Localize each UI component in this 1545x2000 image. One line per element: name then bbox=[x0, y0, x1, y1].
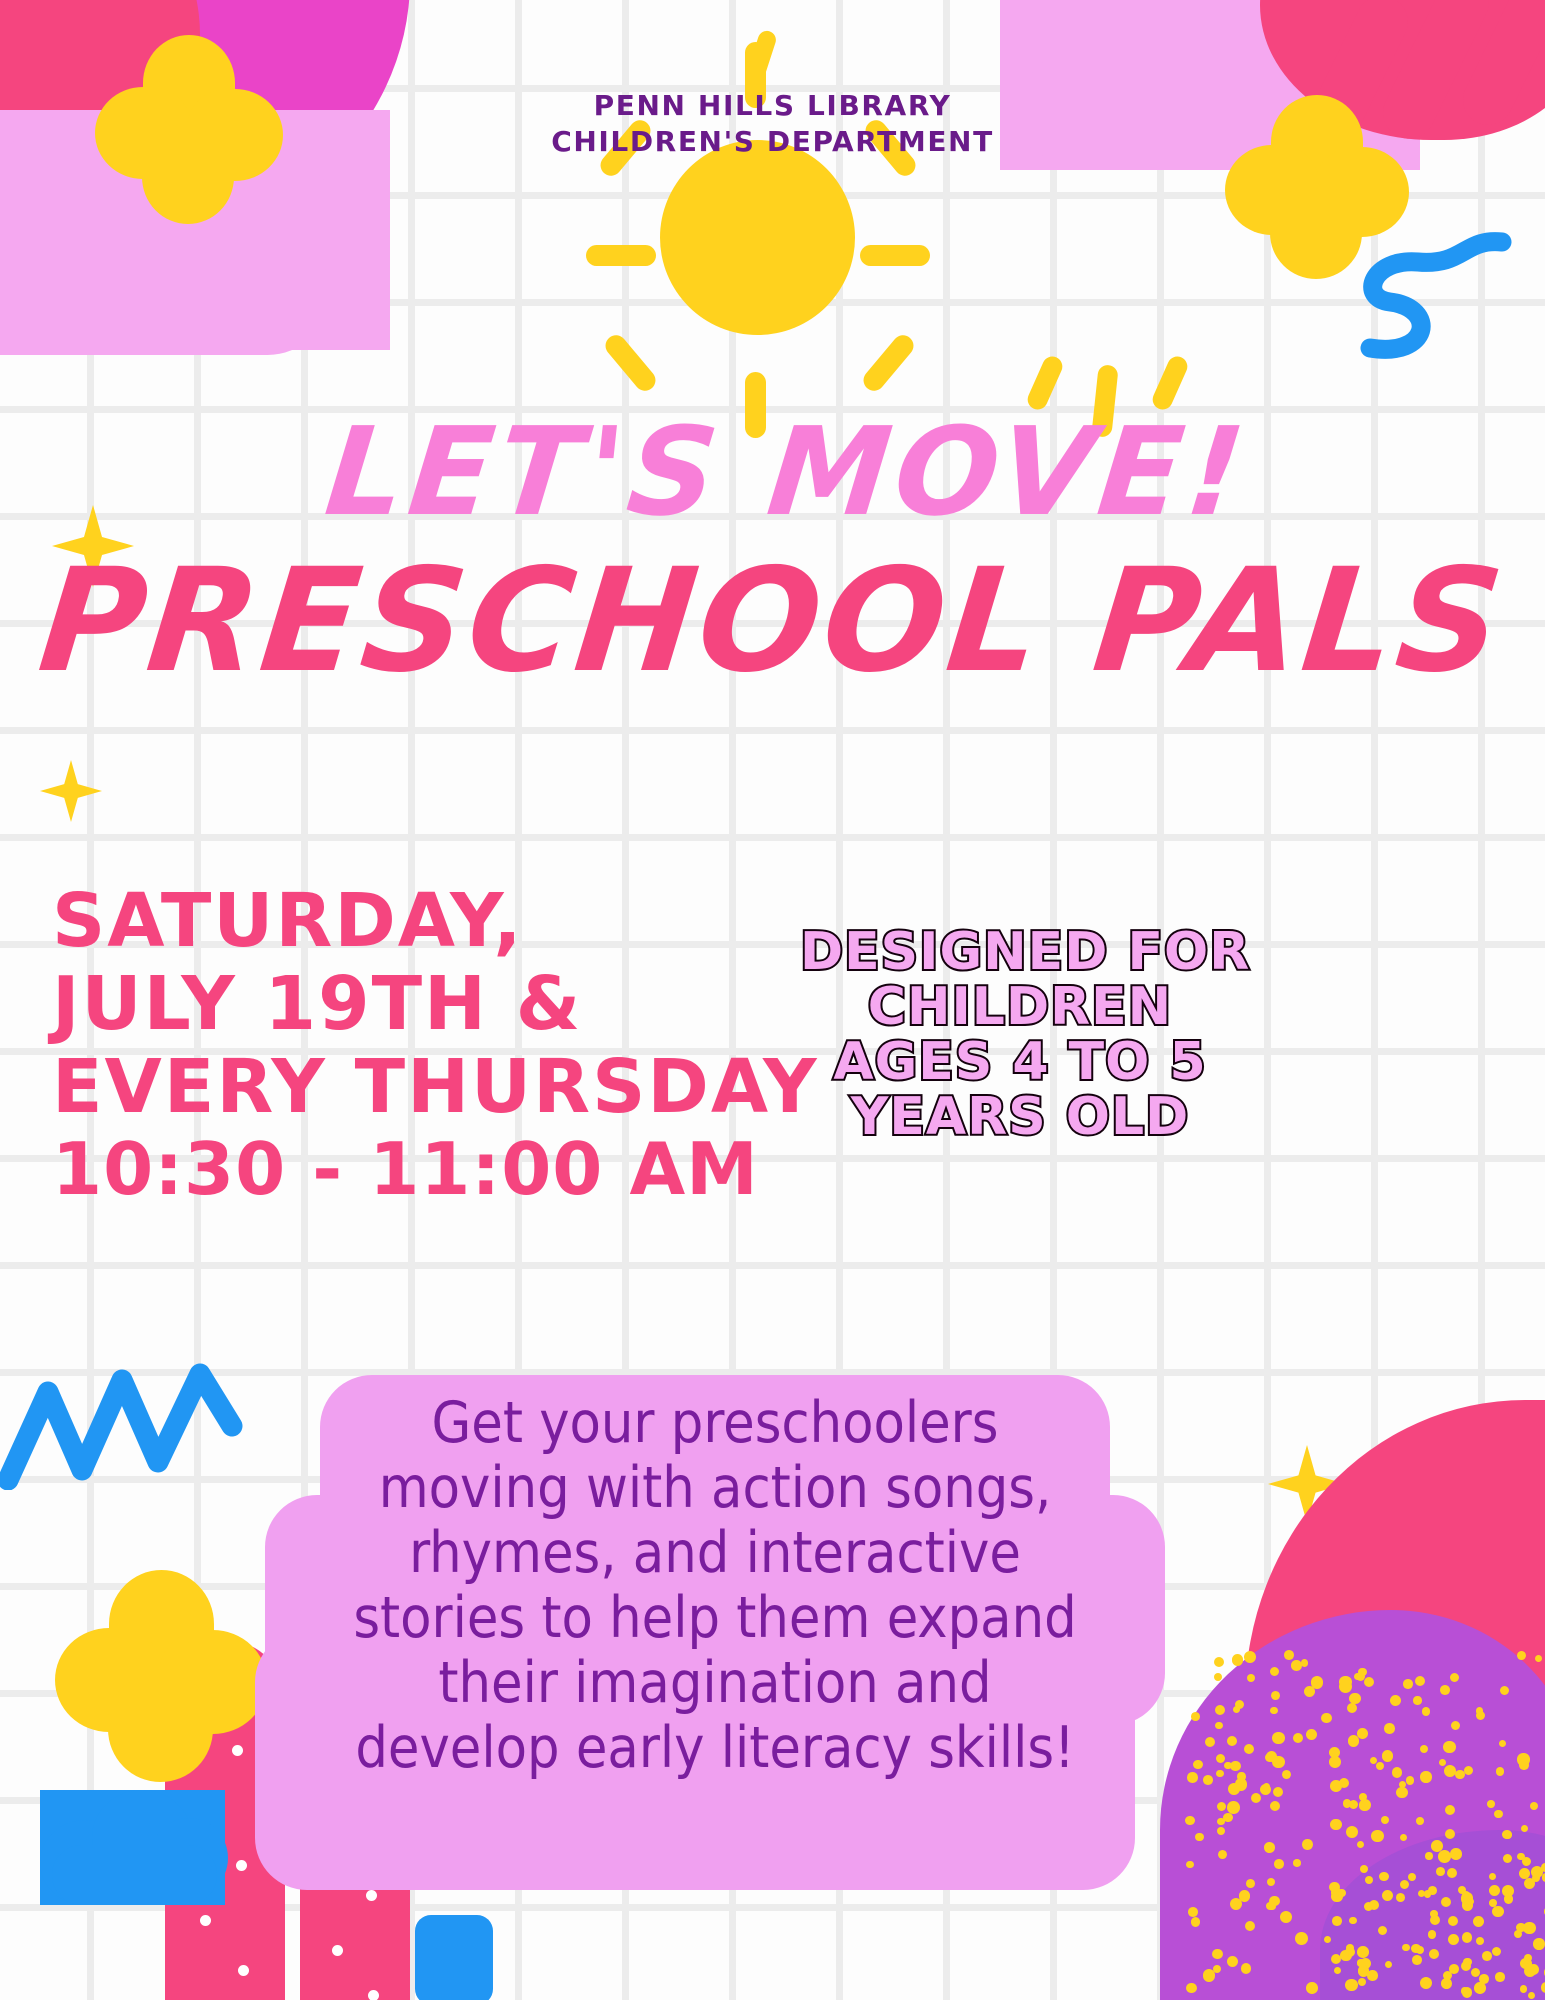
confetti-dot bbox=[1185, 1816, 1195, 1826]
confetti-dot bbox=[1467, 1898, 1474, 1905]
confetti-dot bbox=[1227, 1736, 1237, 1746]
age-badge-line-1: DESIGNED FOR bbox=[800, 925, 1240, 980]
confetti-dot bbox=[1345, 1979, 1357, 1991]
confetti-dot bbox=[1420, 1771, 1431, 1782]
confetti-dot bbox=[1188, 1907, 1198, 1917]
confetti-dot bbox=[1482, 1951, 1492, 1961]
confetti-dot bbox=[1357, 1946, 1369, 1958]
confetti-dot bbox=[1443, 1741, 1456, 1754]
confetti-dot bbox=[1359, 1793, 1367, 1801]
confetti-dot bbox=[1273, 1787, 1283, 1797]
confetti-dot bbox=[1418, 1890, 1425, 1897]
confetti-dot bbox=[1195, 1833, 1204, 1842]
confetti-dot bbox=[1381, 1816, 1389, 1824]
stalk-dot bbox=[366, 1890, 377, 1901]
confetti-dot bbox=[1246, 1879, 1255, 1888]
confetti-dot bbox=[1462, 1987, 1473, 1998]
confetti-dot bbox=[1431, 1840, 1443, 1852]
confetti-dot bbox=[1425, 1852, 1432, 1859]
confetti-dot bbox=[1438, 1850, 1451, 1863]
confetti-dot bbox=[1520, 1958, 1532, 1970]
description-line-3: rhymes, and interactive bbox=[275, 1521, 1155, 1586]
confetti-dot bbox=[1293, 1859, 1300, 1866]
confetti-dot bbox=[1330, 1819, 1341, 1830]
confetti-dot bbox=[1541, 1863, 1545, 1872]
stalk-dot bbox=[332, 1945, 343, 1956]
confetti-dot bbox=[1523, 1922, 1536, 1935]
stalk-dot bbox=[368, 1990, 379, 2000]
title-line-1: LET'S MOVE! bbox=[24, 415, 1545, 531]
confetti-dot bbox=[1402, 1944, 1410, 1952]
confetti-dot bbox=[1503, 1854, 1512, 1863]
confetti-dot bbox=[1489, 1873, 1496, 1880]
confetti-dot bbox=[1517, 1651, 1526, 1660]
confetti-dot bbox=[1439, 1759, 1446, 1766]
confetti-dot bbox=[1301, 1659, 1308, 1666]
stalk-dot bbox=[236, 1860, 247, 1871]
confetti-dot bbox=[1215, 1705, 1225, 1715]
confetti-dot bbox=[1330, 1780, 1342, 1792]
confetti-dot bbox=[1489, 1885, 1500, 1896]
confetti-dot bbox=[1216, 1770, 1223, 1777]
confetti-dot bbox=[1270, 1707, 1278, 1715]
confetti-dot bbox=[1528, 1992, 1535, 1999]
confetti-dot bbox=[1293, 1733, 1303, 1743]
confetti-dot bbox=[1272, 1732, 1285, 1745]
confetti-dot bbox=[1474, 1982, 1486, 1994]
confetti-dot bbox=[1399, 1781, 1407, 1789]
bottom-left-blue-box bbox=[415, 1915, 493, 2000]
confetti-dot bbox=[1241, 1963, 1252, 1974]
age-badge: DESIGNED FOR CHILDREN AGES 4 TO 5 YEARS … bbox=[800, 925, 1240, 1145]
confetti-dot bbox=[1524, 1878, 1535, 1889]
sun-ray bbox=[860, 245, 930, 266]
flyer-poster: PENN HILLS LIBRARY CHILDREN'S DEPARTMENT… bbox=[0, 0, 1545, 2000]
stalk-dot bbox=[200, 1915, 211, 1926]
confetti-dot bbox=[1448, 1916, 1458, 1926]
confetti-dot bbox=[1440, 1685, 1450, 1695]
confetti-dot bbox=[1441, 1897, 1451, 1907]
bottom-left-flower-icon bbox=[55, 1570, 270, 1780]
confetti-dot bbox=[1245, 1921, 1255, 1931]
confetti-dot bbox=[1396, 1787, 1408, 1799]
confetti-dot bbox=[1462, 1932, 1472, 1942]
sun-icon bbox=[660, 140, 855, 335]
department-name: CHILDREN'S DEPARTMENT bbox=[0, 124, 1545, 160]
confetti-dot bbox=[1217, 1818, 1224, 1825]
confetti-dot bbox=[1191, 1712, 1200, 1721]
confetti-dot bbox=[1365, 1876, 1373, 1884]
confetti-dot bbox=[1227, 1801, 1240, 1814]
confetti-dot bbox=[1430, 1915, 1440, 1925]
confetti-dot bbox=[1403, 1679, 1412, 1688]
title-line-2: PRESCHOOL PALS bbox=[0, 553, 1545, 689]
confetti-dot bbox=[1447, 1868, 1457, 1878]
stalk-dot bbox=[238, 1965, 249, 1976]
schedule-time: 10:30 - 11:00 AM bbox=[52, 1129, 819, 1210]
confetti-dot bbox=[1412, 1955, 1422, 1965]
blue-squiggle-bottom-left bbox=[0, 1330, 250, 1490]
confetti-dot bbox=[1227, 1956, 1238, 1967]
confetti-dot bbox=[1282, 1770, 1291, 1779]
header-block: PENN HILLS LIBRARY CHILDREN'S DEPARTMENT bbox=[0, 88, 1545, 161]
confetti-dot bbox=[1450, 1848, 1462, 1860]
confetti-dot bbox=[1476, 1937, 1484, 1945]
confetti-dot bbox=[1495, 1972, 1504, 1981]
confetti-dot bbox=[1422, 1707, 1430, 1715]
confetti-dot bbox=[1428, 1886, 1437, 1895]
confetti-dot bbox=[1496, 1767, 1504, 1775]
confetti-dot bbox=[1492, 1906, 1503, 1917]
confetti-dot bbox=[1269, 1896, 1280, 1907]
confetti-dot bbox=[1503, 1831, 1511, 1839]
bottom-left-blue-cloud bbox=[40, 1790, 225, 1905]
description-line-1: Get your preschoolers bbox=[275, 1391, 1155, 1456]
age-badge-line-3: AGES 4 TO 5 bbox=[800, 1035, 1240, 1090]
confetti-dot bbox=[1264, 1842, 1275, 1853]
library-name: PENN HILLS LIBRARY bbox=[0, 88, 1545, 124]
confetti-dot bbox=[1413, 1696, 1421, 1704]
confetti-dot bbox=[1370, 1757, 1377, 1764]
schedule-line-3: EVERY THURSDAY bbox=[52, 1046, 819, 1129]
confetti-dot bbox=[1337, 1889, 1345, 1897]
age-badge-line-2: CHILDREN bbox=[800, 980, 1240, 1035]
confetti-dot bbox=[1514, 1930, 1522, 1938]
confetti-dot bbox=[1436, 1867, 1445, 1876]
confetti-dot bbox=[1504, 1894, 1513, 1903]
confetti-dot bbox=[1223, 1813, 1232, 1822]
confetti-dot bbox=[1535, 1655, 1542, 1662]
confetti-dot bbox=[1411, 1944, 1421, 1954]
schedule-line-2: JULY 19TH & bbox=[52, 963, 819, 1046]
confetti-dot bbox=[1237, 1772, 1246, 1781]
title-block: LET'S MOVE! PRESCHOOL PALS bbox=[0, 415, 1545, 689]
confetti-dot bbox=[1396, 1893, 1405, 1902]
confetti-dot bbox=[1429, 1949, 1439, 1959]
description-line-6: develop early literacy skills! bbox=[275, 1716, 1155, 1781]
confetti-dot bbox=[1521, 1825, 1528, 1832]
confetti-dot bbox=[1533, 1938, 1545, 1950]
confetti-dot bbox=[1346, 1944, 1354, 1952]
confetti-dot bbox=[1187, 1772, 1198, 1783]
confetti-dot bbox=[1517, 1753, 1529, 1765]
sun-ray bbox=[586, 245, 656, 266]
confetti-dot bbox=[1416, 1817, 1424, 1825]
description-text: Get your preschoolers moving with action… bbox=[275, 1391, 1155, 1781]
confetti-dot bbox=[1295, 1932, 1308, 1945]
confetti-dot bbox=[1244, 1651, 1256, 1663]
age-badge-line-4: YEARS OLD bbox=[800, 1090, 1240, 1145]
confetti-dot bbox=[1385, 1961, 1392, 1968]
confetti-dot bbox=[1230, 1898, 1242, 1910]
confetti-dot bbox=[1232, 1654, 1243, 1665]
confetti-dot bbox=[1379, 1872, 1388, 1881]
schedule-block: SATURDAY, JULY 19TH & EVERY THURSDAY 10:… bbox=[52, 880, 819, 1209]
confetti-dot bbox=[1384, 1723, 1395, 1734]
confetti-dot bbox=[1408, 1873, 1416, 1881]
confetti-dot bbox=[1274, 1859, 1284, 1869]
confetti-dot bbox=[1332, 1916, 1342, 1926]
confetti-dot bbox=[1406, 1776, 1415, 1785]
confetti-dot bbox=[1302, 1839, 1312, 1849]
confetti-dot bbox=[1347, 1703, 1357, 1713]
confetti-dot bbox=[1217, 1827, 1225, 1835]
description-line-5: their imagination and bbox=[275, 1651, 1155, 1716]
confetti-dot bbox=[1349, 1917, 1357, 1925]
confetti-dot bbox=[1473, 1916, 1484, 1927]
confetti-dot bbox=[1476, 1711, 1485, 1720]
confetti-dot bbox=[1193, 1760, 1202, 1769]
confetti-dot bbox=[1354, 1673, 1362, 1681]
confetti-dot bbox=[1428, 1930, 1436, 1938]
confetti-dot bbox=[1420, 1977, 1432, 1989]
confetti-dot bbox=[1487, 1800, 1495, 1808]
confetti-dot bbox=[1230, 1761, 1240, 1771]
description-line-4: stories to help them expand bbox=[275, 1586, 1155, 1651]
confetti-dot bbox=[1371, 1830, 1384, 1843]
description-line-2: moving with action songs, bbox=[275, 1456, 1155, 1521]
confetti-dot bbox=[1247, 1674, 1255, 1682]
confetti-dot bbox=[1492, 1947, 1501, 1956]
confetti-dot bbox=[1280, 1911, 1292, 1923]
schedule-line-1: SATURDAY, bbox=[52, 880, 819, 963]
confetti-dot bbox=[1499, 1740, 1506, 1747]
confetti-dot bbox=[1244, 1744, 1254, 1754]
confetti-dot bbox=[1357, 1728, 1368, 1739]
confetti-dot bbox=[1186, 1861, 1194, 1869]
confetti-dot bbox=[1463, 1958, 1471, 1966]
confetti-dot bbox=[1284, 1650, 1294, 1660]
confetti-dot bbox=[1358, 1965, 1370, 1977]
confetti-dot bbox=[1304, 1686, 1315, 1697]
